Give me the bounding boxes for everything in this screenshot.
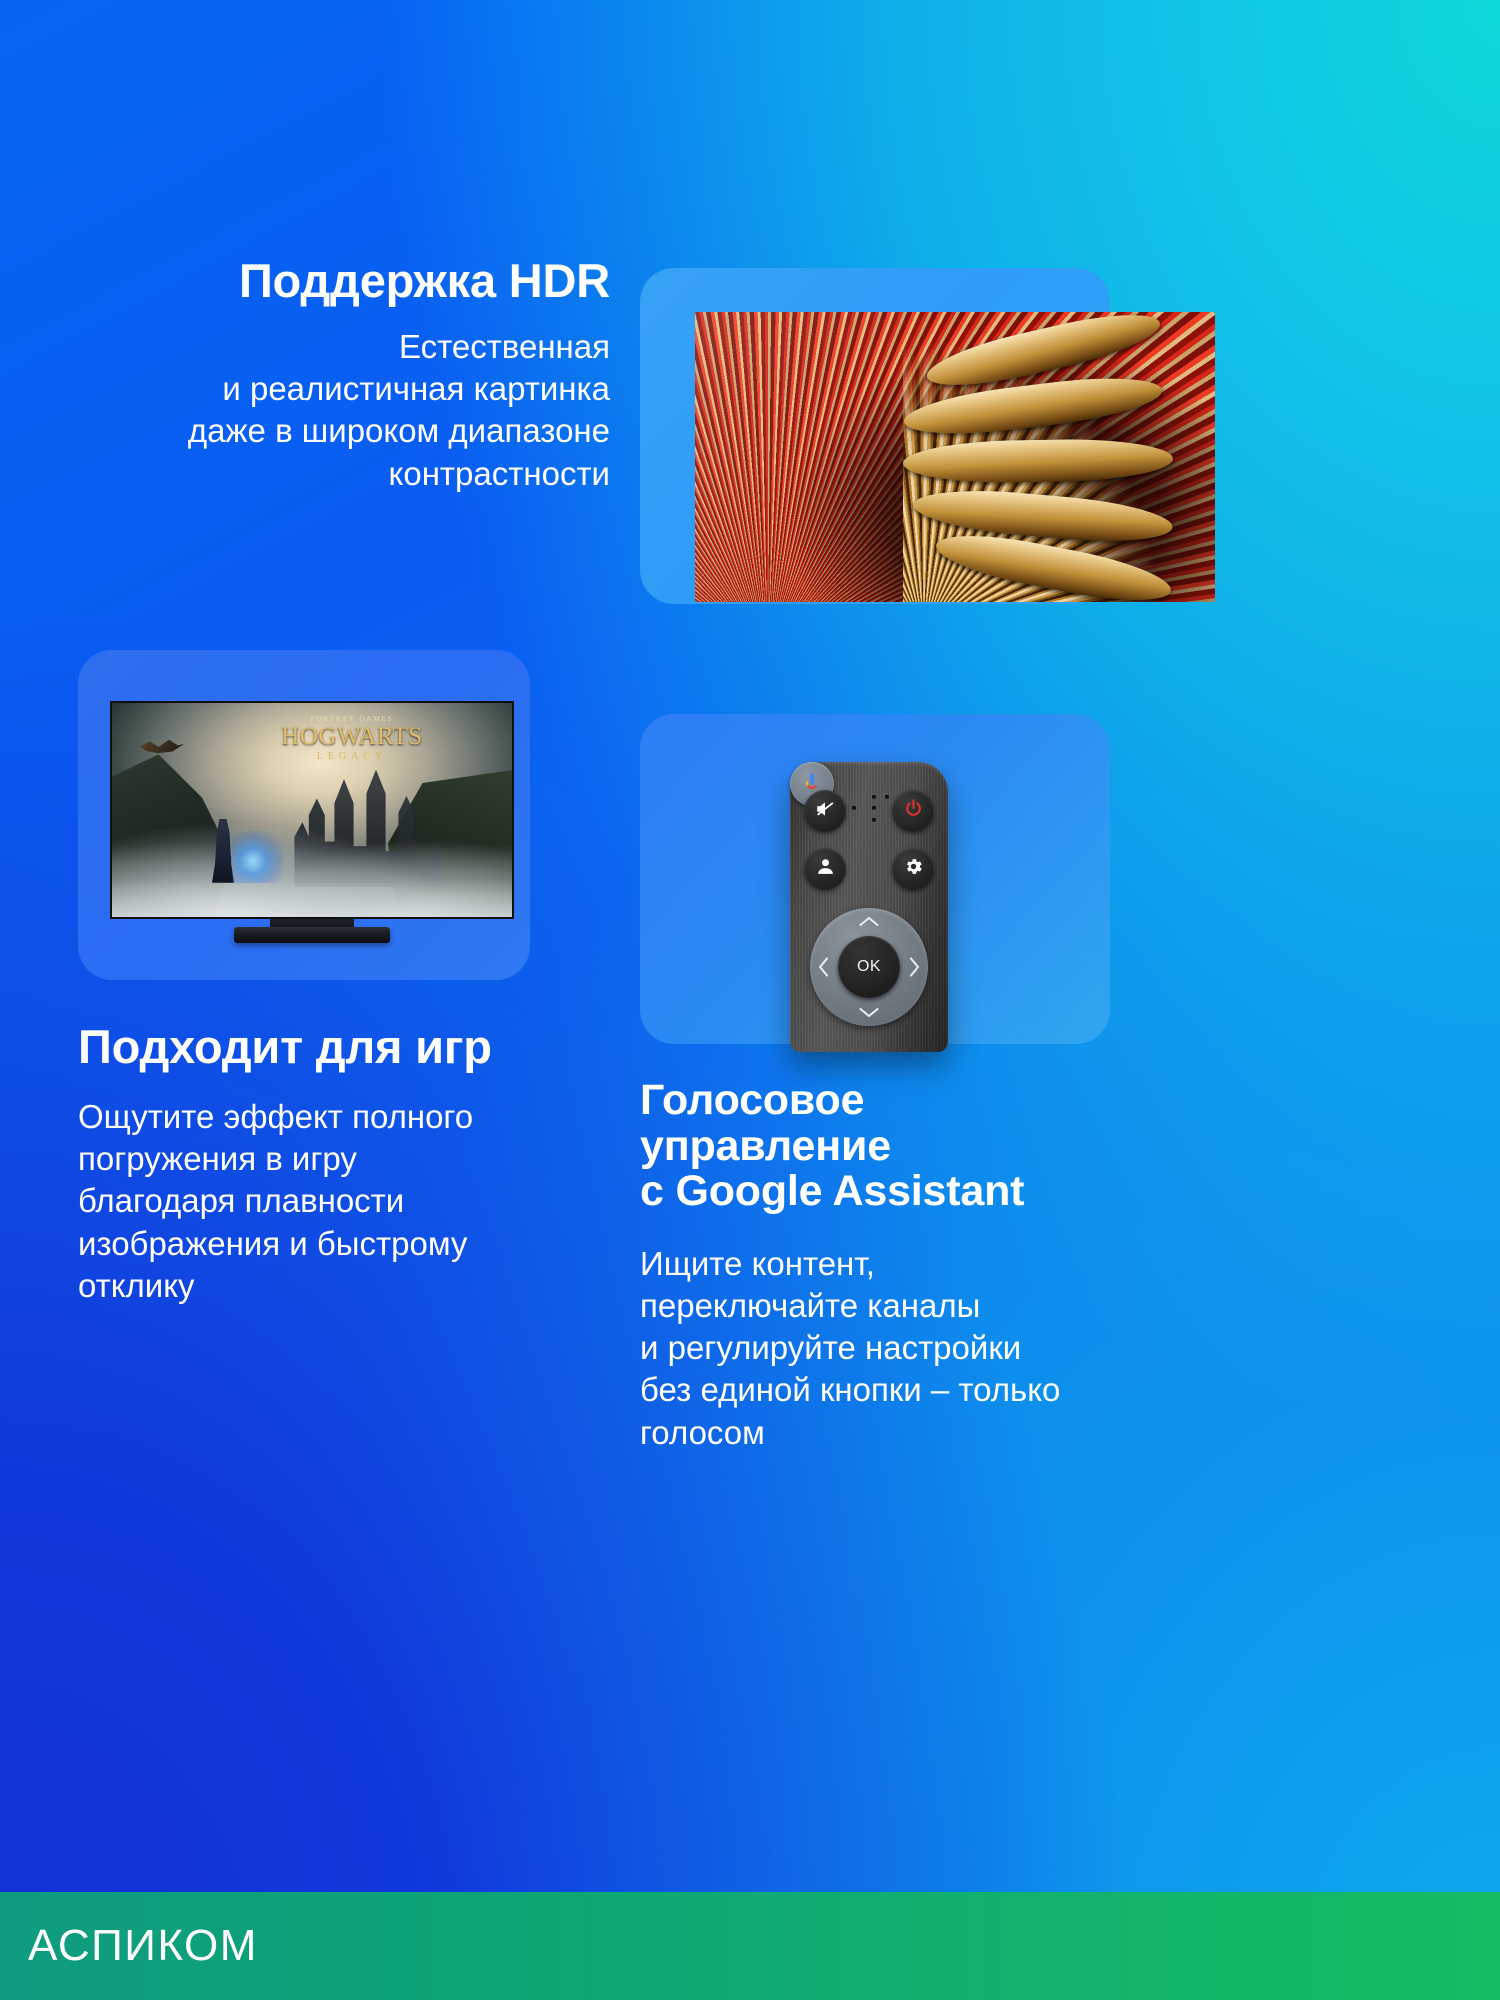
ok-button[interactable]: OK (838, 936, 900, 998)
hdr-title: Поддержка HDR (60, 256, 610, 306)
tv-gaming-photo: PORTKEY GAMES HOGWARTS LEGACY (110, 701, 514, 946)
game-publisher: PORTKEY GAMES (256, 714, 448, 723)
gear-icon (903, 856, 924, 882)
hdr-feather-photo (695, 312, 1215, 602)
dpad-right[interactable] (908, 956, 921, 978)
led-indicator-holes (852, 793, 892, 825)
game-spell-glow (232, 831, 284, 882)
power-button[interactable] (892, 790, 934, 832)
voice-body: Ищите контент,переключайте каналыи регул… (640, 1243, 1120, 1454)
hdr-text-block: Поддержка HDR Естественнаяи реалистичная… (60, 256, 610, 495)
brand-footer-bar: АСПИКОМ (0, 1892, 1500, 2000)
games-feature-card: PORTKEY GAMES HOGWARTS LEGACY (78, 650, 530, 980)
games-body: Ощутите эффект полногопогружения в игруб… (78, 1096, 598, 1307)
games-text-block: Подходит для игр Ощутите эффект полногоп… (78, 1022, 598, 1307)
tv-remote-control: OK (790, 762, 948, 1052)
tv-screen: PORTKEY GAMES HOGWARTS LEGACY (110, 701, 514, 919)
game-fog (112, 844, 512, 917)
game-logo: PORTKEY GAMES HOGWARTS LEGACY (256, 714, 448, 762)
game-title: HOGWARTS (256, 724, 448, 749)
dpad-up[interactable] (858, 915, 880, 928)
photo-gloss (695, 312, 1215, 602)
brand-name: АСПИКОМ (0, 1924, 258, 1968)
dpad-control[interactable]: OK (810, 908, 928, 1026)
dpad-down[interactable] (858, 1006, 880, 1019)
mute-icon (814, 798, 836, 825)
mute-button[interactable] (804, 790, 846, 832)
game-subtitle: LEGACY (256, 751, 448, 762)
person-icon (815, 856, 836, 882)
power-icon (903, 798, 924, 824)
profile-button[interactable] (804, 848, 846, 890)
promo-poster: Поддержка HDR Естественнаяи реалистичная… (0, 0, 1500, 2000)
tv-stand-base (234, 927, 390, 943)
dpad-left[interactable] (817, 956, 830, 978)
settings-button[interactable] (892, 848, 934, 890)
voice-text-block: Голосовоеуправлениес Google Assistant Ищ… (640, 1078, 1120, 1454)
hdr-feature-card (640, 268, 1110, 604)
hdr-body: Естественнаяи реалистичная картинкадаже … (60, 326, 610, 495)
voice-title: Голосовоеуправлениес Google Assistant (640, 1078, 1120, 1215)
games-title: Подходит для игр (78, 1022, 598, 1072)
